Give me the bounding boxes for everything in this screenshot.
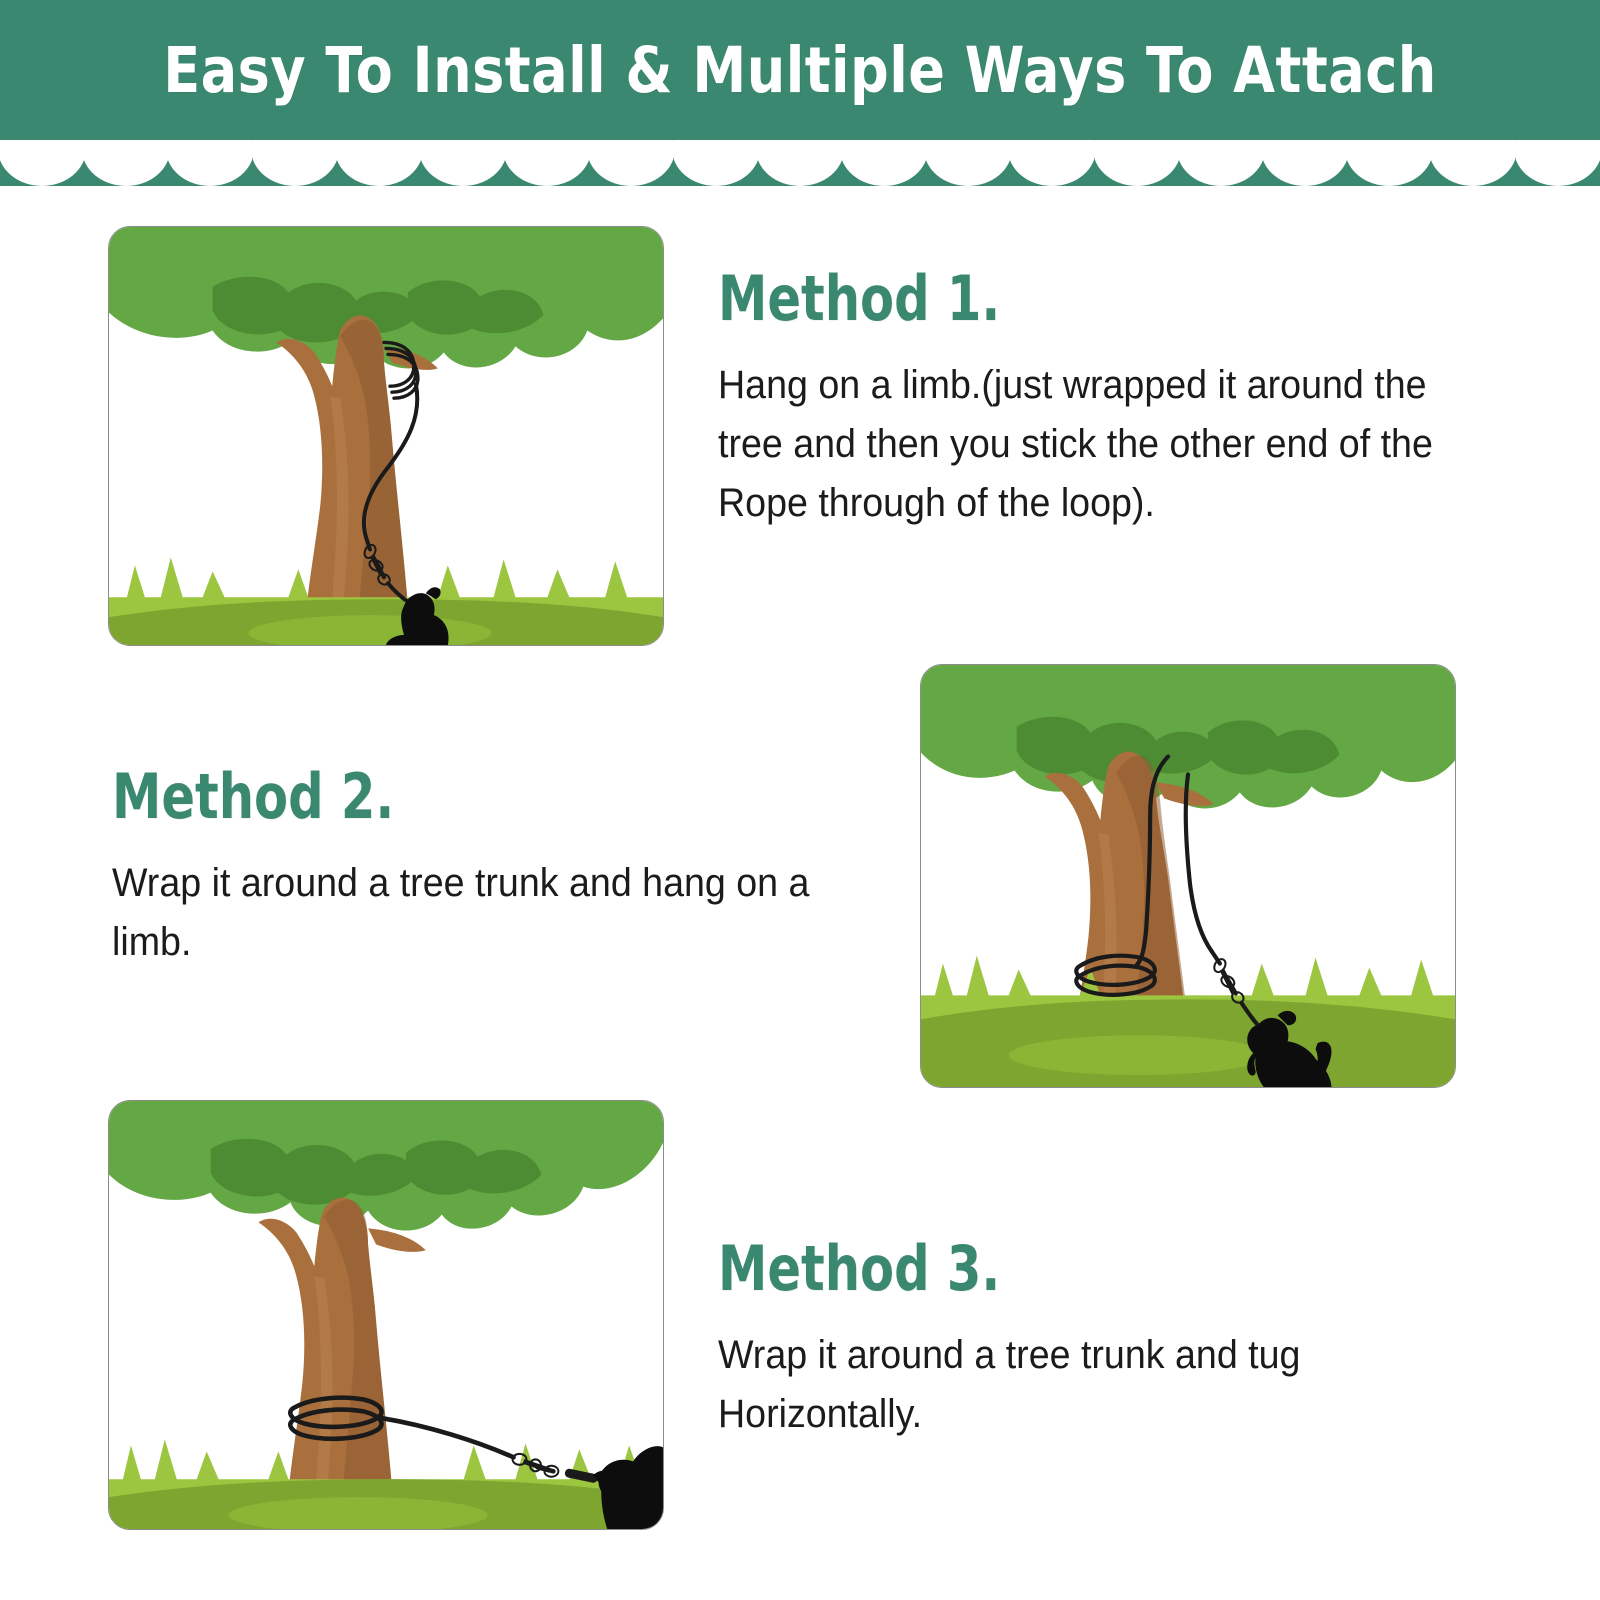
page-header-banner: Easy To Install & Multiple Ways To Attac… — [0, 0, 1600, 140]
method-3-description: Wrap it around a tree trunk and tug Hori… — [718, 1326, 1461, 1444]
method-3-heading: Method 3. — [718, 1238, 1350, 1300]
method-2-heading: Method 2. — [112, 766, 744, 828]
tree-rope-wrapped-trunk-over-limb-with-small-dog-illustration — [921, 665, 1455, 1087]
method-3-text-block: Method 3. Wrap it around a tree trunk an… — [718, 1238, 1508, 1444]
scallop-notch — [674, 140, 758, 186]
scallop-notch — [421, 140, 505, 186]
scallop-notch — [0, 140, 84, 186]
scallop-notch — [1179, 140, 1263, 186]
tree-rope-wrapped-trunk-horizontal-with-large-dog-illustration — [109, 1101, 663, 1529]
scallop-notch — [253, 140, 337, 186]
scalloped-divider — [0, 140, 1600, 186]
scallop-notch — [1263, 140, 1347, 186]
scallop-notch — [926, 140, 1010, 186]
scallop-notch — [1431, 140, 1515, 186]
scallop-notch — [168, 140, 252, 186]
ground-shadow — [1009, 1035, 1268, 1075]
scallop-notch — [1347, 140, 1431, 186]
scallop-notch — [1516, 140, 1600, 186]
scallop-notch — [842, 140, 926, 186]
scallop-notch — [337, 140, 421, 186]
scallop-notch — [589, 140, 673, 186]
scallop-notch — [84, 140, 168, 186]
tree-rope-hanging-on-limb-with-small-dog-illustration — [109, 227, 663, 645]
method-1-heading: Method 1. — [718, 268, 1350, 330]
scallop-notch — [1095, 140, 1179, 186]
method-2-illustration-card — [920, 664, 1456, 1088]
tree-canopy — [109, 1101, 663, 1231]
method-1-description: Hang on a limb.(just wrapped it around t… — [718, 356, 1461, 534]
grass-ground — [921, 956, 1455, 1087]
scallop-notch — [758, 140, 842, 186]
scallop-notch — [505, 140, 589, 186]
method-1-text-block: Method 1. Hang on a limb.(just wrapped i… — [718, 268, 1508, 534]
method-3-illustration-card — [108, 1100, 664, 1530]
method-2-description: Wrap it around a tree trunk and hang on … — [112, 854, 855, 972]
method-1-illustration-card — [108, 226, 664, 646]
scallop-notch — [1010, 140, 1094, 186]
page-title: Easy To Install & Multiple Ways To Attac… — [112, 0, 1488, 140]
method-2-text-block: Method 2. Wrap it around a tree trunk an… — [112, 766, 902, 972]
